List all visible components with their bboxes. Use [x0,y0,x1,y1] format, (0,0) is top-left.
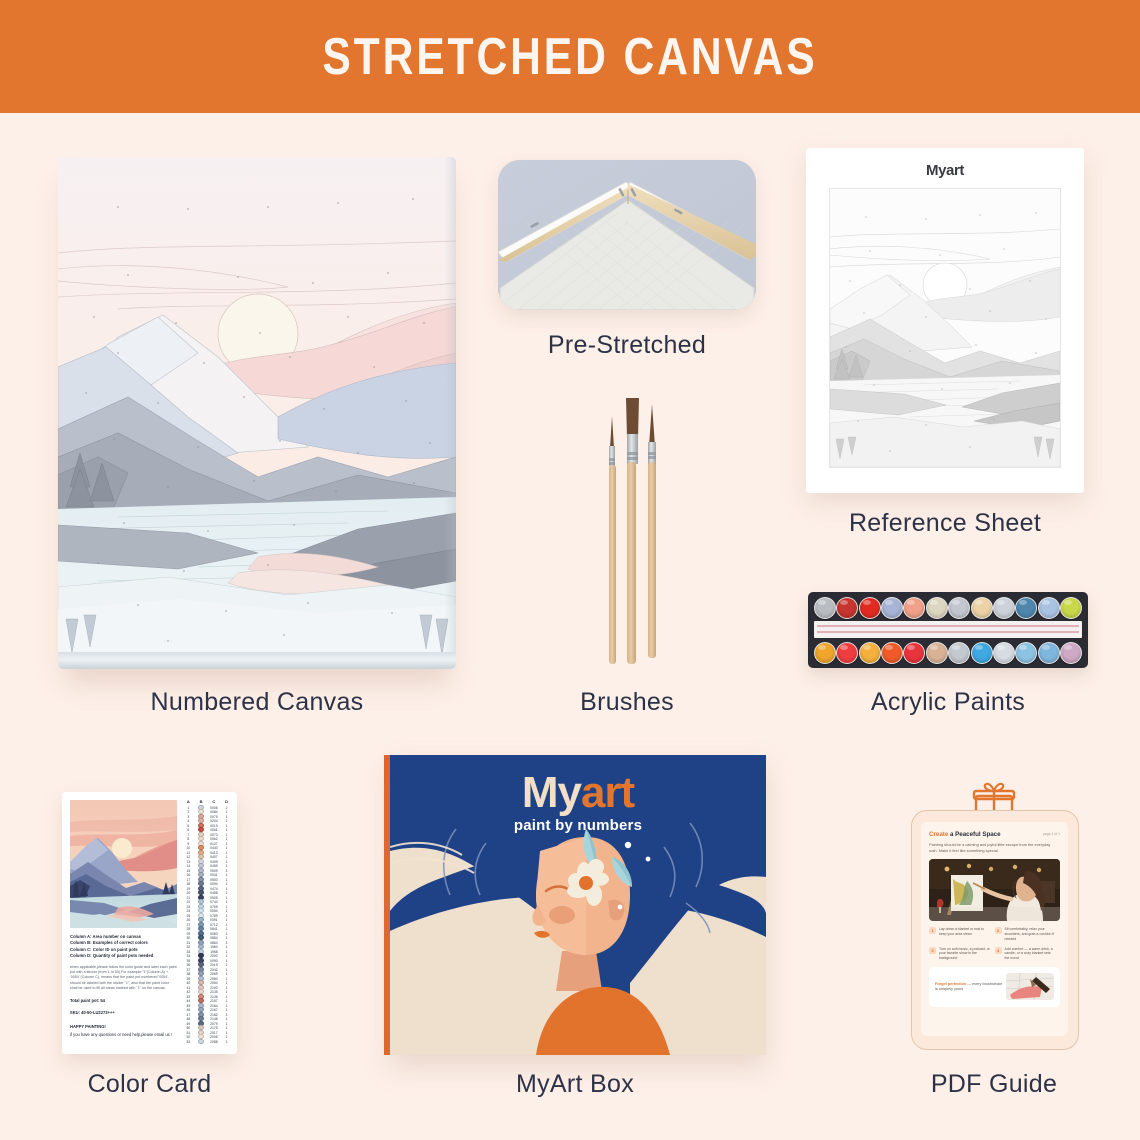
cell-color-id: 0083 [208,932,221,936]
reference-sheet-logo: Myart [926,162,964,179]
cell-color-id: 0006 [208,806,221,810]
landscape-artwork-color [70,800,177,928]
cell-color-id: 2100 [208,986,221,990]
cell-color-id: 2182 [208,1013,221,1017]
cell-area-number: 30 [182,936,195,940]
canvas-face [58,157,456,669]
cell-quantity: 1 [220,936,233,940]
cell-area-number: 41 [182,986,195,990]
cell-area-number: 27 [182,923,195,927]
cell-quantity: 1 [220,923,233,927]
cell-quantity: 1 [220,1017,233,1021]
col-header-d: D [220,799,233,804]
cell-quantity: 1 [220,1026,233,1030]
cell-color-id: 0084 [208,810,221,814]
cell-color-id: 0500 [208,878,221,882]
paint-pot [881,597,903,619]
cell-quantity: 1 [220,864,233,868]
cell-color-id: 2006 [208,1035,221,1039]
paint-pot [1015,597,1037,619]
cell-area-number: 42 [182,990,195,994]
cell-quantity: 1 [220,837,233,841]
cell-color-id: 0712 [208,923,221,927]
paint-pot [881,642,903,664]
landscape-artwork-grayscale [830,189,1060,467]
cell-area-number: 28 [182,927,195,931]
cell-quantity: 1 [220,918,233,922]
pdf-tip-item: 1Lay down a blanket or mat to keep your … [929,927,995,941]
paint-pot [903,642,925,664]
caption-pdf-guide: PDF Guide [903,1070,1085,1099]
paint-pot-row-bottom [814,642,1082,664]
caption-acrylic-paints: Acrylic Paints [808,688,1088,717]
cell-quantity: 1 [220,828,233,832]
cell-quantity: 1 [220,950,233,954]
cell-area-number: 2 [182,810,195,814]
cell-area-number: 37 [182,968,195,972]
caption-numbered-canvas: Numbered Canvas [58,688,456,717]
pdf-heading: page 1 of 1 Create a Peaceful Space [929,830,1060,839]
cell-quantity: 1 [220,954,233,958]
cell-color-id: 2054 [208,981,221,985]
pdf-tips-list: 1Lay down a blanket or mat to keep your … [929,927,1060,966]
brushes-image [572,386,692,676]
cell-quantity: 1 [220,1004,233,1008]
cell-quantity: 1 [220,1031,233,1035]
paint-pot [814,642,836,664]
cell-color-swatch [195,1039,208,1045]
color-card-image: Column A: Area number on canvas Column B… [62,792,237,1054]
box-front-face: Myart paint by numbers [390,755,766,1055]
tip-text: Lay down a blanket or mat to keep your a… [939,927,995,941]
cell-color-id: 0765 [208,905,221,909]
cell-area-number: 19 [182,887,195,891]
cell-area-number: 34 [182,954,195,958]
cell-color-id: 0841 [208,927,221,931]
cell-quantity: 1 [220,972,233,976]
caption-color-card: Color Card [62,1070,237,1099]
product-infographic: STRETCHED CANVAS [0,0,1140,1140]
paint-pot [948,642,970,664]
cell-quantity: 1 [220,878,233,882]
acrylic-paints-image [808,592,1088,668]
cell-color-id: 0062 [208,837,221,841]
cell-quantity: 1 [220,977,233,981]
stretched-frame-illustration [498,160,756,310]
cell-quantity: 1 [220,968,233,972]
cell-area-number: 8 [182,837,195,841]
paint-pot [1038,642,1060,664]
paint-pot [1038,597,1060,619]
cell-color-id: 2000 [208,954,221,958]
cell-quantity: 1 [220,986,233,990]
cell-quantity: 1 [220,932,233,936]
cell-color-id: 2167 [208,1008,221,1012]
cell-quantity: 1 [220,914,233,918]
page-title: STRETCHED CANVAS [322,27,817,87]
cell-area-number: 31 [182,941,195,945]
cell-color-id: 2148 [208,1017,221,1021]
cell-color-id: 1960 [208,945,221,949]
col-header-b: B [195,799,208,804]
cell-color-id: 0505 [208,896,221,900]
cell-area-number: 9 [182,842,195,846]
cell-color-id: 0509 [208,869,221,873]
cell-color-id: 1968 [208,950,221,954]
paint-pot [1060,597,1082,619]
paint-pot [836,642,858,664]
cell-color-id: 2135 [208,990,221,994]
pdf-page-label: page 1 of 1 [1043,830,1060,839]
col-header-a: A [182,799,195,804]
cell-color-id: 2069 [208,972,221,976]
legend-line-d: Column D: Quantity of paint pots needed [70,953,177,959]
cell-area-number: 11 [182,851,195,855]
color-card-table: A B C D 10006220084130075140204150019160… [182,792,237,1054]
cell-area-number: 12 [182,855,195,859]
cell-color-id: 0127 [208,842,221,846]
cell-quantity: 1 [220,999,233,1003]
cell-quantity: 1 [220,905,233,909]
cell-area-number: 3 [182,815,195,819]
cell-area-number: 47 [182,1013,195,1017]
caption-myart-box: MyArt Box [384,1070,766,1099]
cell-area-number: 14 [182,864,195,868]
cell-color-id: 2088 [208,1040,221,1044]
cell-color-id: 0073 [208,833,221,837]
pdf-subtitle: Painting should be a calming and joyful … [929,842,1060,853]
cell-quantity: 1 [220,959,233,963]
cell-area-number: 32 [182,945,195,949]
paint-pot [971,597,993,619]
col-header-c: C [208,799,221,804]
cell-area-number: 25 [182,914,195,918]
cell-area-number: 43 [182,995,195,999]
paint-pot [859,597,881,619]
woman-painting-photo [929,859,1060,921]
cell-color-id: 2019 [208,963,221,967]
tip-text: Sit comfortably, relax your shoulders, a… [1005,927,1061,941]
cell-area-number: 22 [182,900,195,904]
canvas-side-shading [444,157,456,669]
canvas-bottom-edge [58,652,456,669]
sku-value: SKU: 40-50-LU2273+++ [70,1010,177,1016]
cell-quantity: 1 [220,981,233,985]
cell-quantity: 1 [220,869,233,873]
color-card-paper: Column A: Area number on canvas Column B… [62,792,237,1054]
pdf-hero-photo [929,859,1060,921]
cell-area-number: 33 [182,950,195,954]
cell-area-number: 45 [182,1004,195,1008]
pdf-heading-orange: Create [929,831,948,838]
paint-pot-row-top [814,597,1082,619]
cell-area-number: 21 [182,896,195,900]
tip-number-icon: 4 [995,947,1002,954]
cell-quantity: 1 [220,941,233,945]
cell-color-id: 2017 [208,1031,221,1035]
pdf-tip-item: 2Sit comfortably, relax your shoulders, … [995,927,1061,941]
paint-pot [926,642,948,664]
paint-pot [859,642,881,664]
total-paint-pot: Total paint pot: 54 [70,998,177,1004]
paint-pot [926,597,948,619]
cell-quantity: 1 [220,846,233,850]
cell-color-id: 0458 [208,891,221,895]
cell-area-number: 1 [182,806,195,810]
cell-quantity: 1 [220,990,233,994]
cell-color-id: 0041 [208,873,221,877]
numbered-canvas-image [58,157,456,669]
cell-color-id: 0884 [208,936,221,940]
cell-color-id: 0204 [208,819,221,823]
table-row: 5320881 [182,1040,233,1045]
caption-brushes: Brushes [498,688,756,717]
cell-color-id: 0744 [208,900,221,904]
pdf-tip-item: 4Add comfort — a warm drink, a candle, o… [995,947,1061,961]
cell-color-id: 2079 [208,1022,221,1026]
paint-pot [903,597,925,619]
cell-area-number: 38 [182,972,195,976]
pdf-highlight-box: Forget perfection — every brushstroke is… [929,967,1060,1007]
cell-quantity: 1 [220,873,233,877]
box-tagline: paint by numbers [390,817,766,834]
pdf-guide-page: page 1 of 1 Create a Peaceful Space Pain… [921,822,1068,1036]
cell-area-number: 16 [182,873,195,877]
pdf-tip-item: 3Turn on soft music, a podcast, or your … [929,947,995,961]
cell-color-id: 0054 [208,909,221,913]
header-banner: STRETCHED CANVAS [0,0,1140,113]
pdf-guide-image: page 1 of 1 Create a Peaceful Space Pain… [903,782,1085,1054]
paint-pot [948,597,970,619]
cell-color-id: 2175 [208,1026,221,1030]
myart-box-image: Myart paint by numbers [384,755,766,1055]
cell-color-id: 0091 [208,918,221,922]
cell-quantity: 1 [220,896,233,900]
cell-color-id: 0094 [208,882,221,886]
box-logo: Myart [390,771,766,815]
cell-color-id: 0019 [208,824,221,828]
cell-quantity: 2 [220,806,233,810]
paint-label-strip [814,621,1082,638]
color-card-artwork [70,800,177,928]
brush-stroke-photo [1006,973,1054,1000]
cell-quantity: 1 [220,819,233,823]
cell-color-id: 0864 [208,941,221,945]
cell-area-number: 20 [182,891,195,895]
cell-area-number: 40 [182,981,195,985]
pdf-highlight-photo [1006,973,1054,1000]
cell-area-number: 13 [182,860,195,864]
cell-color-id: 0061 [208,828,221,832]
cell-color-id: 0789 [208,914,221,918]
landscape-artwork-pastel [58,157,456,669]
cell-area-number: 26 [182,918,195,922]
cell-color-id: 2042 [208,968,221,972]
cell-area-number: 6 [182,828,195,832]
paint-tray [808,592,1088,668]
tip-number-icon: 2 [995,927,1002,934]
cell-quantity: 1 [220,887,233,891]
logo-my-text: My [522,768,581,817]
cell-area-number: 36 [182,963,195,967]
cell-color-id: 2136 [208,995,221,999]
cell-quantity: 1 [220,1008,233,1012]
cell-area-number: 44 [182,999,195,1003]
happy-painting: HAPPY PAINTING! [70,1024,177,1030]
cell-quantity: 1 [220,945,233,949]
tip-number-icon: 3 [929,947,936,954]
cell-area-number: 29 [182,932,195,936]
paint-pot [1015,642,1037,664]
cell-quantity: 1 [220,851,233,855]
cell-quantity: 1 [220,815,233,819]
cell-color-id: 0075 [208,815,221,819]
cell-quantity: 1 [220,995,233,999]
cell-quantity: 1 [220,882,233,886]
cell-quantity: 1 [220,963,233,967]
legend-paragraph: when applicable,please follow the color … [70,965,177,992]
cell-area-number: 35 [182,959,195,963]
tip-text: Turn on soft music, a podcast, or your f… [939,947,995,961]
cell-color-id: 0440 [208,846,221,850]
cell-quantity: 1 [220,855,233,859]
cell-color-id: 0459 [208,864,221,868]
cell-area-number: 46 [182,1008,195,1012]
paint-pot [814,597,836,619]
canvas-corner-photo [498,160,756,310]
cell-color-id: 0413 [208,851,221,855]
reference-sheet-paper: Myart [806,148,1084,493]
cell-area-number: 10 [182,846,195,850]
tip-number-icon: 1 [929,927,936,934]
cell-area-number: 18 [182,882,195,886]
cell-quantity: 1 [220,810,233,814]
tip-text: Add comfort — a warm drink, a candle, or… [1005,947,1061,961]
cell-area-number: 51 [182,1031,195,1035]
cell-color-id: 2080 [208,977,221,981]
cell-quantity: 1 [220,833,233,837]
contact-line: if you have any questions or need help,p… [70,1032,177,1038]
reference-sheet-artwork [829,188,1061,468]
paint-pot [1060,642,1082,664]
cell-area-number: 7 [182,833,195,837]
pdf-heading-dark: a Peaceful Space [948,831,1000,838]
paint-pot [836,597,858,619]
cell-area-number: 48 [182,1017,195,1021]
cell-area-number: 23 [182,905,195,909]
table-header-row: A B C D [182,799,233,804]
cell-quantity: 1 [220,900,233,904]
cell-area-number: 15 [182,869,195,873]
paint-pot [993,597,1015,619]
pre-stretched-image [498,160,756,310]
cell-color-id: 0409 [208,860,221,864]
cell-area-number: 5 [182,824,195,828]
cell-area-number: 24 [182,909,195,913]
cell-area-number: 17 [182,878,195,882]
caption-reference-sheet: Reference Sheet [806,509,1084,538]
cell-color-id: 2157 [208,999,221,1003]
cell-area-number: 39 [182,977,195,981]
reference-sheet-image: Myart [806,148,1084,493]
color-card-legend: Column A: Area number on canvas Column B… [70,934,177,1038]
cell-color-id: 0090 [208,959,221,963]
cell-area-number: 50 [182,1026,195,1030]
cell-quantity: 1 [220,824,233,828]
cell-quantity: 1 [220,1040,233,1044]
cell-area-number: 52 [182,1035,195,1039]
cell-quantity: 1 [220,842,233,846]
cell-quantity: 1 [220,1022,233,1026]
cell-quantity: 1 [220,891,233,895]
paint-pot [993,642,1015,664]
cell-quantity: 1 [220,1035,233,1039]
paint-brushes-illustration [572,386,692,676]
cell-color-id: 0407 [208,855,221,859]
cell-quantity: 1 [220,927,233,931]
cell-quantity: 1 [220,860,233,864]
cell-area-number: 49 [182,1022,195,1026]
cell-color-id: 0474 [208,887,221,891]
cell-area-number: 4 [182,819,195,823]
table-body: 1000622008413007514020415001916006117007… [182,806,233,1045]
cell-area-number: 53 [182,1040,195,1044]
cell-quantity: 1 [220,1013,233,1017]
cell-quantity: 1 [220,909,233,913]
logo-art-text: art [581,768,634,817]
cell-color-id: 2164 [208,1004,221,1008]
pdf-highlight-text: Forget perfection — every brushstroke is… [935,982,1006,993]
caption-pre-stretched: Pre-Stretched [498,331,756,360]
paint-pot [971,642,993,664]
color-card-left: Column A: Area number on canvas Column B… [62,792,182,1054]
highlight-bold: Forget perfection [935,982,966,986]
